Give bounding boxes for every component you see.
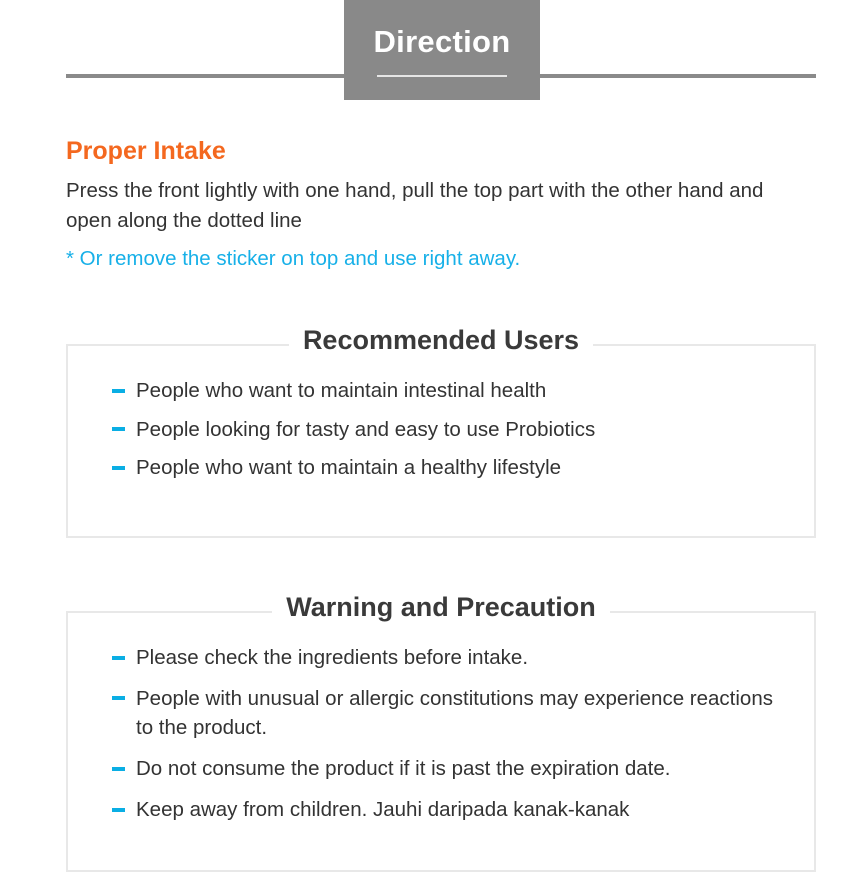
page-header: Direction [0,0,856,110]
list-item-label: People looking for tasty and easy to use… [136,418,595,441]
list-item-label: People with unusual or allergic constitu… [136,687,773,740]
recommended-users-panel: Recommended Users People who want to mai… [66,344,816,538]
list-item: Do not consume the product if it is past… [112,754,774,784]
warning-precaution-body: Please check the ingredients before inta… [68,613,814,862]
dash-bullet-icon [112,767,125,771]
direction-page: Direction Proper Intake Press the front … [0,0,856,883]
header-title-badge: Direction [344,0,540,100]
warning-precaution-list: Please check the ingredients before inta… [68,643,814,825]
dash-bullet-icon [112,696,125,700]
dash-bullet-icon [112,656,125,660]
dash-bullet-icon [112,808,125,812]
list-item-label: People who want to maintain intestinal h… [136,379,546,402]
list-item: People who want to maintain intestinal h… [112,376,774,406]
proper-intake-note: * Or remove the sticker on top and use r… [66,244,818,274]
warning-precaution-panel: Warning and Precaution Please check the … [66,611,816,872]
list-item: Please check the ingredients before inta… [112,643,774,673]
recommended-users-list: People who want to maintain intestinal h… [68,376,814,483]
header-title-underline [377,75,507,77]
proper-intake-section: Proper Intake Press the front lightly wi… [66,136,818,274]
list-item: Keep away from children. Jauhi daripada … [112,795,774,825]
dash-bullet-icon [112,466,125,470]
page-title: Direction [373,26,510,57]
list-item: People with unusual or allergic constitu… [112,684,774,743]
list-item-label: Keep away from children. Jauhi daripada … [136,798,629,821]
recommended-users-body: People who want to maintain intestinal h… [68,346,814,509]
proper-intake-heading: Proper Intake [66,136,818,166]
list-item-label: Do not consume the product if it is past… [136,757,670,780]
dash-bullet-icon [112,427,125,431]
dash-bullet-icon [112,389,125,393]
list-item-label: Please check the ingredients before inta… [136,646,528,669]
list-item: People looking for tasty and easy to use… [112,415,774,445]
list-item: People who want to maintain a healthy li… [112,453,774,483]
list-item-label: People who want to maintain a healthy li… [136,456,561,479]
proper-intake-description: Press the front lightly with one hand, p… [66,176,806,235]
